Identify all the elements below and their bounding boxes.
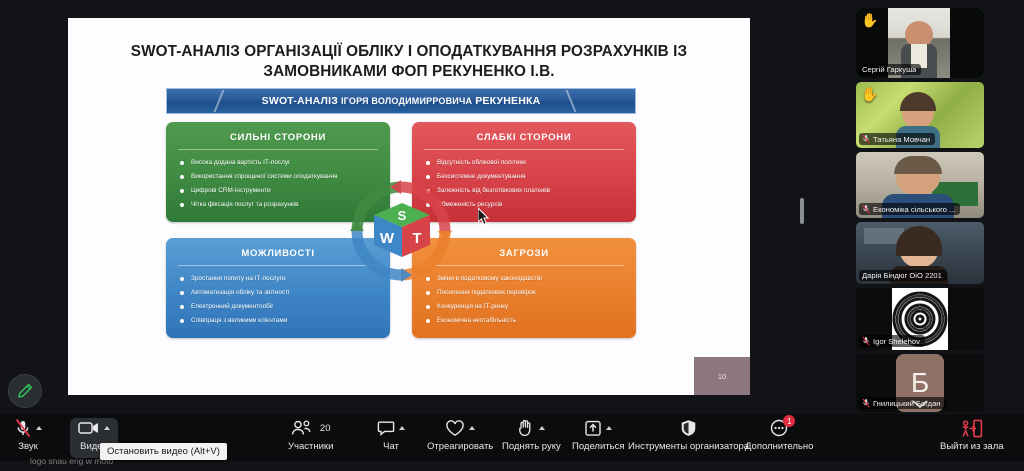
participant-name-badge: Татьяна Мовчан xyxy=(859,133,935,145)
hair xyxy=(900,92,936,111)
banner-text: SWOT-АНАЛІЗ ІГОРЯ ВОЛОДИМИРРОВИЧА РЕКУНЕ… xyxy=(166,88,636,114)
hair xyxy=(894,156,942,174)
participant-name-badge: Економіка сільського ... xyxy=(859,203,960,215)
annotate-pen-button[interactable] xyxy=(8,374,42,408)
host-tools-label: Инструменты организатора xyxy=(628,441,749,452)
share-label: Поделиться xyxy=(572,441,624,452)
more-label: Дополнительно xyxy=(745,441,813,452)
react-options-caret-icon[interactable] xyxy=(469,426,475,430)
participant-name: Сергій Гаркуша xyxy=(862,65,916,74)
panel-drag-handle[interactable] xyxy=(800,198,804,224)
swot-list-item: Автоматизація обліку та звітності xyxy=(180,286,390,300)
participant-tile[interactable]: Економіка сільського ... xyxy=(856,152,984,218)
mic-off-icon xyxy=(862,204,870,214)
raise-hand-label: Поднять руку xyxy=(502,441,561,452)
swot-list-item: Висока додана вартість ІТ-послуг xyxy=(180,156,390,170)
raised-hand-icon: ✋ xyxy=(861,87,878,101)
mic-off-icon xyxy=(862,336,870,346)
slide-page-number: 10 xyxy=(694,357,750,395)
slide-title: SWOT-АНАЛІЗ ОРГАНІЗАЦІЇ ОБЛІКУ І ОПОДАТК… xyxy=(102,42,716,82)
participants-label: Участники xyxy=(288,441,333,452)
svg-text:W: W xyxy=(380,230,395,247)
more-button[interactable]: 1 Дополнительно xyxy=(745,418,813,458)
strip-scroll-down-button[interactable] xyxy=(856,394,984,414)
raised-hand-icon xyxy=(517,419,535,437)
share-options-caret-icon[interactable] xyxy=(606,426,612,430)
swot-list-item: Електронний документообіг xyxy=(180,300,390,314)
participant-tile[interactable]: ✋ Татьяна Мовчан xyxy=(856,82,984,148)
chat-bubble-icon xyxy=(377,420,395,436)
leave-label: Выйти из зала xyxy=(940,441,1004,452)
host-tools-button[interactable]: Инструменты организатора xyxy=(628,418,749,458)
participant-name: Економіка сільського ... xyxy=(873,205,955,214)
participants-count: 20 xyxy=(320,423,331,434)
svg-text:T: T xyxy=(412,230,421,247)
mic-off-icon xyxy=(14,418,32,438)
participants-icon xyxy=(291,420,313,437)
more-notification-badge: 1 xyxy=(783,415,795,427)
participants-button[interactable]: 20 Участники xyxy=(288,418,333,458)
banner-end-text: РЕКУНЕНКА xyxy=(475,95,540,107)
audio-options-caret-icon[interactable] xyxy=(36,426,42,430)
chat-label: Чат xyxy=(383,441,399,452)
participant-tile[interactable]: Igor Shelehov xyxy=(856,288,984,350)
banner-mid-text: ІГОРЯ ВОЛОДИМИРРОВИЧА xyxy=(338,96,475,106)
chevron-down-icon xyxy=(911,399,929,409)
participant-tile[interactable]: ✋ Сергій Гаркуша xyxy=(856,8,984,78)
participant-name-badge: Сергій Гаркуша xyxy=(859,64,921,75)
audio-label: Звук xyxy=(18,441,37,452)
participant-name-badge: Igor Shelehov xyxy=(859,335,925,347)
swot-card-list: Зміни в податковому законодавстві Посиле… xyxy=(426,272,636,328)
swot-card-title: СЛАБКІ СТОРОНИ xyxy=(424,126,624,150)
swot-card-title: СИЛЬНІ СТОРОНИ xyxy=(178,126,378,150)
swot-list-item: Економічна нестабільність xyxy=(426,314,636,328)
svg-text:S: S xyxy=(398,208,407,223)
video-camera-icon xyxy=(78,420,100,436)
audio-button[interactable]: Звук xyxy=(14,418,42,458)
banner-main-text: SWOT-АНАЛІЗ xyxy=(262,95,338,107)
pen-icon xyxy=(17,383,33,399)
leave-meeting-icon xyxy=(961,419,983,438)
participant-video-strip[interactable]: ✋ Сергій Гаркуша ✋ Татьяна Мовчан xyxy=(856,8,984,414)
raised-hand-icon: ✋ xyxy=(861,13,878,27)
share-button[interactable]: Поделиться xyxy=(572,418,624,458)
swot-list-item: Відсутність облікової політики xyxy=(426,156,636,170)
heart-icon xyxy=(445,420,465,437)
raise-hand-button[interactable]: Поднять руку xyxy=(502,418,561,458)
participant-tile[interactable]: Дарія Біндюг ОіО 2201 xyxy=(856,222,984,284)
swot-card-list: Відсутність облікової політики Безсистем… xyxy=(426,156,636,212)
chat-button[interactable]: Чат xyxy=(377,418,405,458)
swot-list-item: Співпраця з великими клієнтами xyxy=(180,314,390,328)
video-options-caret-icon[interactable] xyxy=(104,426,110,430)
shield-icon xyxy=(680,419,697,437)
participant-name: Дарія Біндюг ОіО 2201 xyxy=(862,271,942,280)
swot-cube-icon: S W T xyxy=(371,201,433,263)
swot-list-item: Зміни в податковому законодавстві xyxy=(426,272,636,286)
mic-off-icon xyxy=(862,134,870,144)
zoom-meeting-window: SWOT-АНАЛІЗ ОРГАНІЗАЦІЇ ОБЛІКУ І ОПОДАТК… xyxy=(0,0,1024,471)
react-button[interactable]: Отреагировать xyxy=(427,418,493,458)
swot-banner: SWOT-АНАЛІЗ ІГОРЯ ВОЛОДИМИРРОВИЧА РЕКУНЕ… xyxy=(166,88,636,114)
share-screen-icon xyxy=(584,420,602,437)
swot-list-item: Конкуренція на ІТ-ринку xyxy=(426,300,636,314)
chat-options-caret-icon[interactable] xyxy=(399,426,405,430)
leave-button[interactable]: Выйти из зала xyxy=(940,418,1004,458)
participant-name: Igor Shelehov xyxy=(873,337,920,346)
participant-name: Татьяна Мовчан xyxy=(873,135,930,144)
swot-quadrant-grid: СИЛЬНІ СТОРОНИ Висока додана вартість ІТ… xyxy=(166,122,636,338)
swot-list-item: Посилення податкових перевірок xyxy=(426,286,636,300)
participant-name-badge: Дарія Біндюг ОіО 2201 xyxy=(859,270,947,281)
react-label: Отреагировать xyxy=(427,441,493,452)
swot-list-item: Залежність від безготівкових платежів xyxy=(426,184,636,198)
swot-card-title: ЗАГРОЗИ xyxy=(424,242,624,266)
swot-list-item: Безсистемне документування xyxy=(426,170,636,184)
mouse-cursor xyxy=(478,208,490,226)
raise-hand-options-caret-icon[interactable] xyxy=(539,426,545,430)
video-button-tooltip: Остановить видео (Alt+V) xyxy=(100,443,227,460)
presentation-slide: SWOT-АНАЛІЗ ОРГАНІЗАЦІЇ ОБЛІКУ І ОПОДАТК… xyxy=(68,18,750,395)
swot-list-item: Обмеженість ресурсів xyxy=(426,198,636,212)
shared-screen-stage[interactable]: SWOT-АНАЛІЗ ОРГАНІЗАЦІЇ ОБЛІКУ І ОПОДАТК… xyxy=(0,0,852,410)
